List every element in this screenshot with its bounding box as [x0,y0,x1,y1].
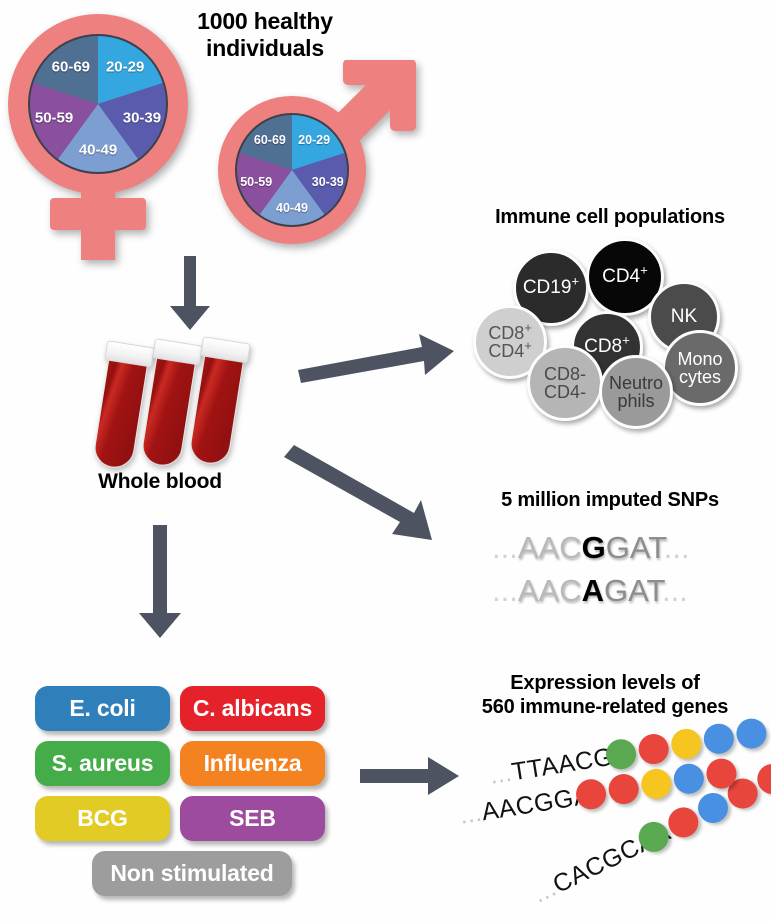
dna-bead [636,732,670,766]
dna-bead [669,727,703,761]
dna-bead [606,772,640,806]
dna-bead [704,756,738,790]
expression-dna-strands: ...TTAACGG...AACGGAT...CACGCAA [0,0,771,922]
dna-bead [672,762,706,796]
dna-bead [734,716,768,750]
dna-bead [702,722,736,756]
dna-bead [639,767,673,801]
